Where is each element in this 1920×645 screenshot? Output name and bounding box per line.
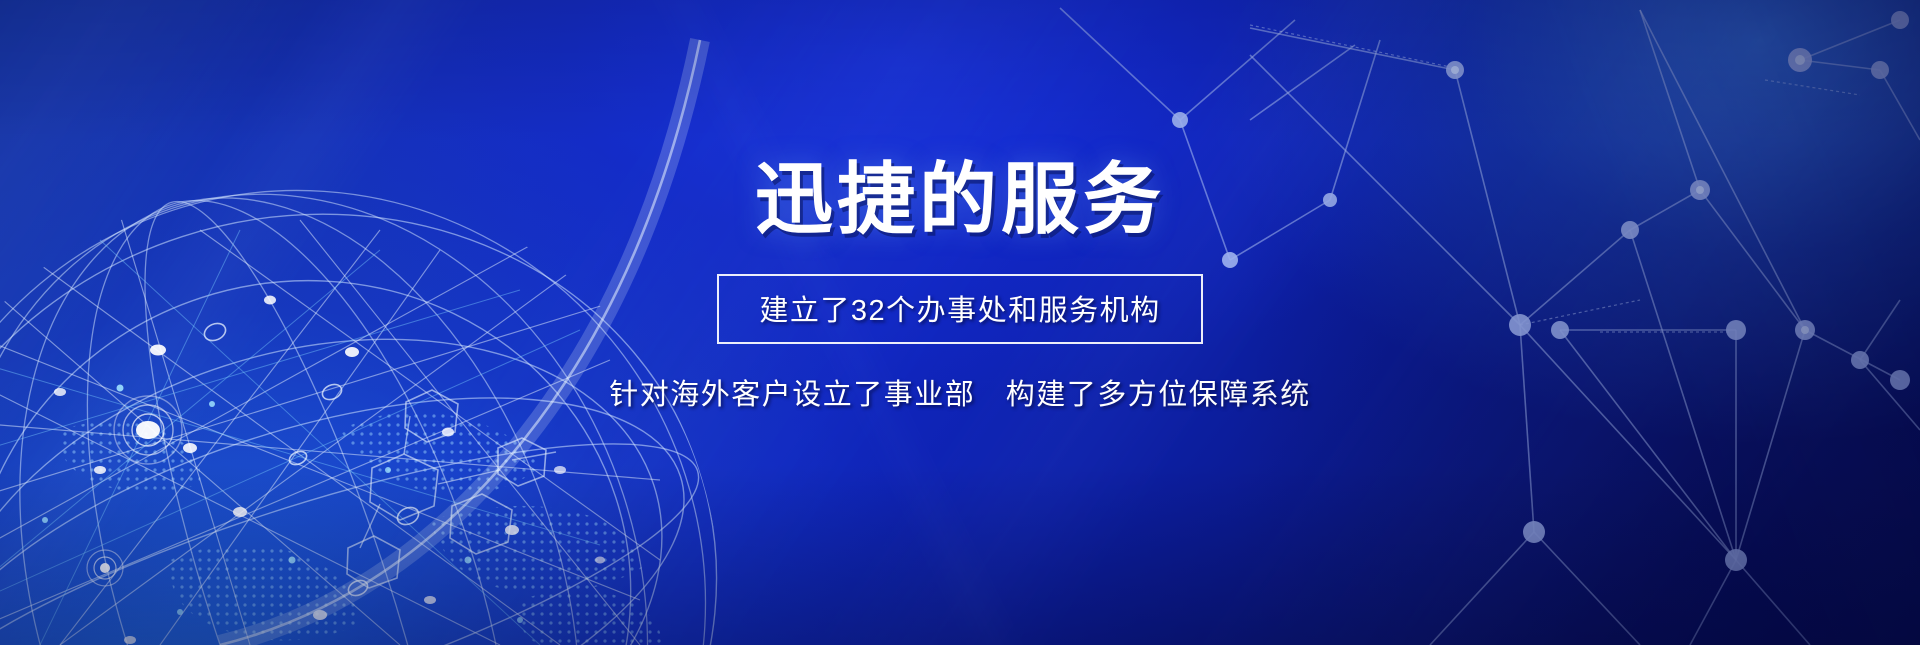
subtitle-box: 建立了32个办事处和服务机构	[717, 274, 1202, 344]
tagline-text: 针对海外客户设立了事业部 构建了多方位保障系统	[609, 371, 1311, 413]
subtitle-text: 建立了32个办事处和服务机构	[759, 287, 1160, 329]
banner-content: 迅捷的服务 建立了32个办事处和服务机构 针对海外客户设立了事业部 构建了多方位…	[0, 0, 1920, 645]
service-banner: 迅捷的服务 建立了32个办事处和服务机构 针对海外客户设立了事业部 构建了多方位…	[0, 0, 1920, 645]
page-title: 迅捷的服务	[755, 160, 1165, 238]
